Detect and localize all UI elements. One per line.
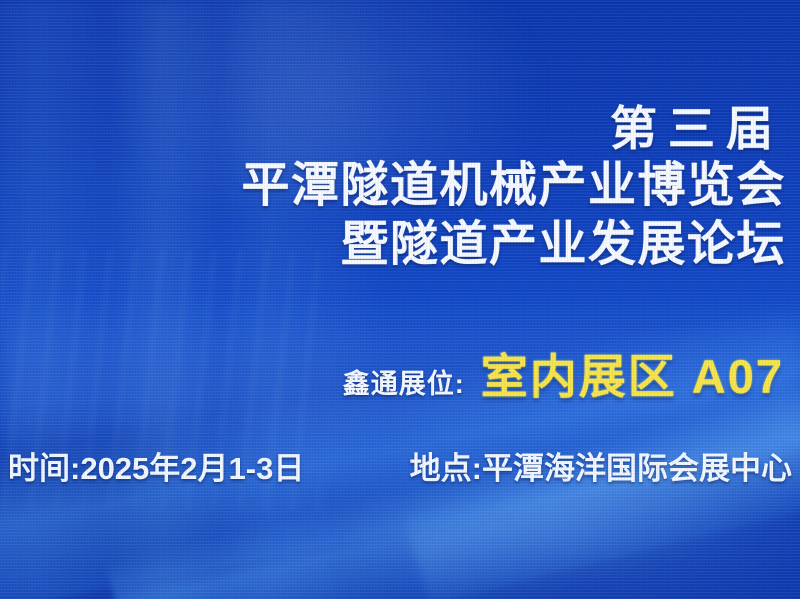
booth-number: 室内展区 A07 [481, 338, 784, 407]
event-date: 时间:2025年2月1-3日 [8, 443, 304, 488]
booth-label: 鑫通展位: [343, 362, 465, 401]
event-title: 第三届 平潭隧道机械产业博览会 暨隧道产业发展论坛 [241, 104, 786, 271]
event-details: 时间:2025年2月1-3日 地点:平潭海洋国际会展中心 [8, 443, 792, 488]
event-poster: 第三届 平潭隧道机械产业博览会 暨隧道产业发展论坛 鑫通展位: 室内展区 A07… [0, 0, 800, 599]
title-line-subtitle: 暨隧道产业发展论坛 [241, 220, 786, 271]
booth-info: 鑫通展位: 室内展区 A07 [343, 338, 784, 407]
poster-content: 第三届 平潭隧道机械产业博览会 暨隧道产业发展论坛 鑫通展位: 室内展区 A07… [0, 0, 800, 599]
title-line-edition: 第三届 [241, 104, 786, 154]
event-venue: 地点:平潭海洋国际会展中心 [410, 443, 792, 488]
title-line-main: 平潭隧道机械产业博览会 [241, 161, 786, 212]
